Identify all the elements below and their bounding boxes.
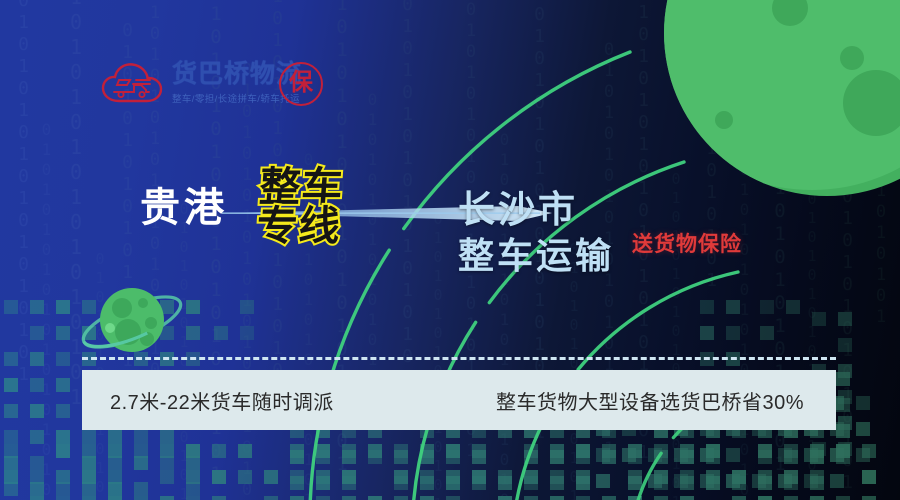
binary-column: 010101010101010101 xyxy=(430,210,445,500)
binary-column: 0101010101010101010101 xyxy=(804,190,819,500)
cloud-truck-icon xyxy=(100,58,164,108)
origin-city: 贵港 xyxy=(140,188,228,228)
binary-column: 0101010101010101 xyxy=(364,90,380,410)
ringed-planet-icon xyxy=(76,276,188,368)
info-bar: 2.7米-22米货车随时调派 整车货物大型设备选货巴桥省30% xyxy=(82,370,836,430)
insurance-seal-label: 保 xyxy=(289,71,313,95)
service-badge-line1: 整车 xyxy=(258,168,345,207)
insurance-note: 送货物保险 xyxy=(632,228,742,258)
binary-column: 0101010101010101010101 xyxy=(238,60,255,500)
service-badge-line2: 专线 xyxy=(255,207,342,246)
destination-city: 长沙市 xyxy=(458,186,614,233)
service-badge: 整车 专线 xyxy=(255,168,345,247)
destination-block: 长沙市 整车运输 xyxy=(458,186,614,279)
binary-column: 0101010101010101010101 xyxy=(668,170,683,500)
binary-column: 010101010101010101 xyxy=(14,0,32,386)
green-planet-icon xyxy=(662,0,900,198)
destination-service: 整车运输 xyxy=(458,233,614,279)
binary-column: 0101010101010101010101 xyxy=(38,120,54,500)
dashed-divider xyxy=(82,357,836,360)
brand-logo: 货巴桥物流 整车/零担/长途拼车/轿车托运 xyxy=(100,58,302,108)
info-bar-left-text: 2.7米-22米货车随时调派 xyxy=(110,386,334,415)
info-bar-right-text: 整车货物大型设备选货巴桥省30% xyxy=(496,386,808,415)
insurance-seal-icon: 保 xyxy=(279,62,323,106)
banner-canvas: 0101010101010101010101010101010101010101… xyxy=(0,0,900,500)
